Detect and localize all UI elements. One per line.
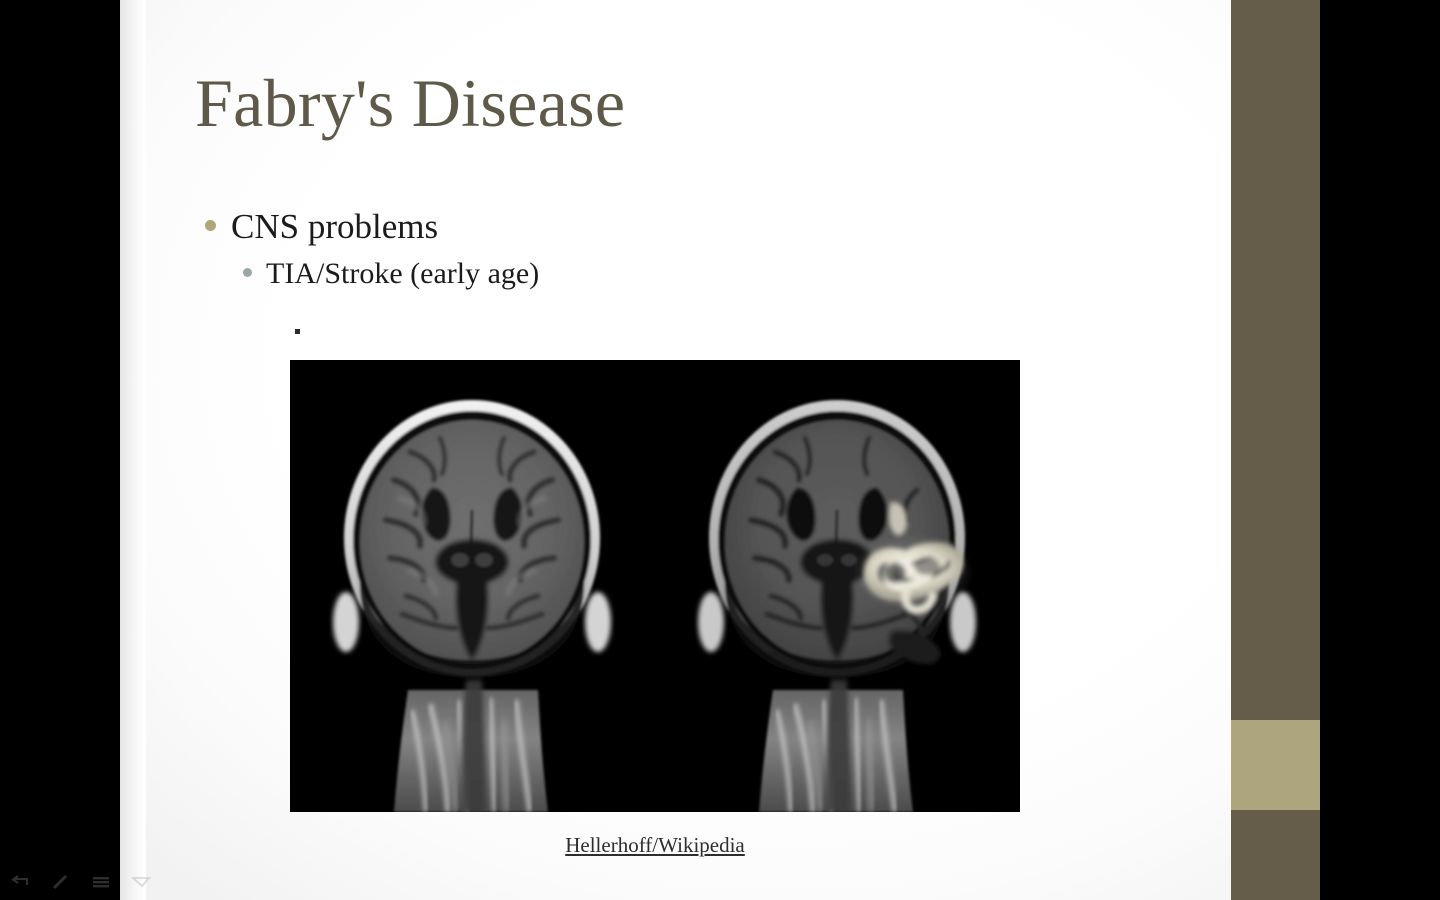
pen-icon[interactable] [48, 871, 74, 893]
mri-figure [290, 360, 1020, 812]
page-title: Fabry's Disease [195, 68, 1175, 139]
menu-icon[interactable] [88, 871, 114, 893]
presentation-stage: Fabry's Disease CNS problems TIA/Stroke … [0, 0, 1440, 900]
bullet-dot-icon [205, 220, 216, 231]
bullet-text-level1: CNS problems [231, 208, 438, 247]
pointer-icon[interactable] [128, 871, 154, 893]
list-item: TIA/Stroke (early age) [243, 257, 1175, 290]
bullet-dot-icon [243, 268, 252, 277]
slide-side-band [1231, 0, 1320, 900]
mri-image [290, 360, 1020, 812]
list-item: CNS problems [205, 208, 1175, 247]
stray-marker-dot [295, 329, 300, 334]
figure-caption: Hellerhoff/Wikipedia [290, 833, 1020, 858]
arrow-return-icon[interactable] [8, 871, 34, 893]
figure-caption-link[interactable]: Hellerhoff/Wikipedia [565, 833, 745, 857]
slide-side-accent-block [1231, 720, 1320, 810]
slide[interactable]: Fabry's Disease CNS problems TIA/Stroke … [120, 0, 1320, 900]
presenter-controls [8, 871, 154, 893]
bullet-text-level2: TIA/Stroke (early age) [266, 257, 539, 290]
bullet-list: CNS problems TIA/Stroke (early age) [195, 208, 1175, 290]
